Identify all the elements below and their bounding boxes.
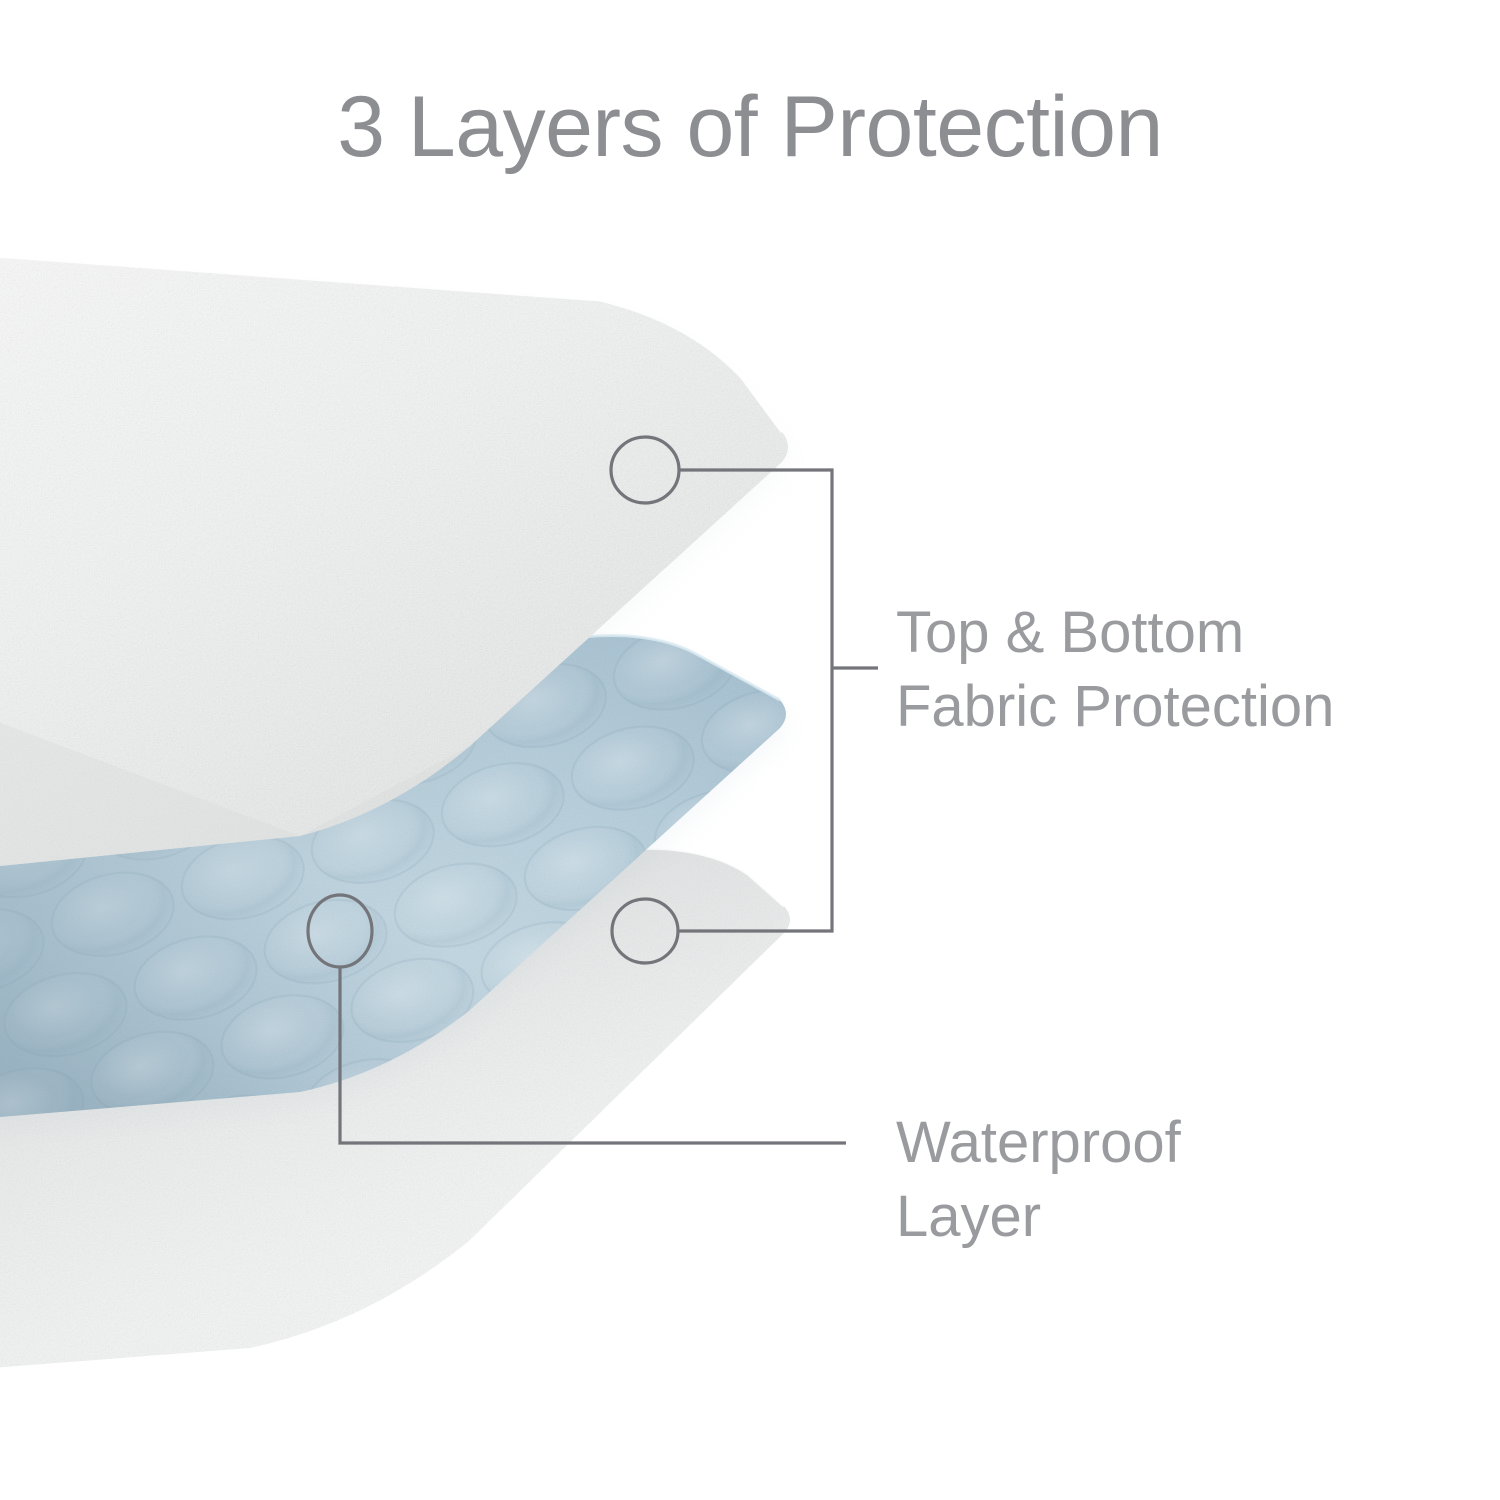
infographic-canvas: 3 Layers of Protection xyxy=(0,0,1500,1500)
callout-label-waterproof: Waterproof Layer xyxy=(896,1106,1181,1254)
callout-label-fabric-protection: Top & Bottom Fabric Protection xyxy=(896,596,1334,744)
layer-diagram-artwork xyxy=(0,0,1500,1500)
